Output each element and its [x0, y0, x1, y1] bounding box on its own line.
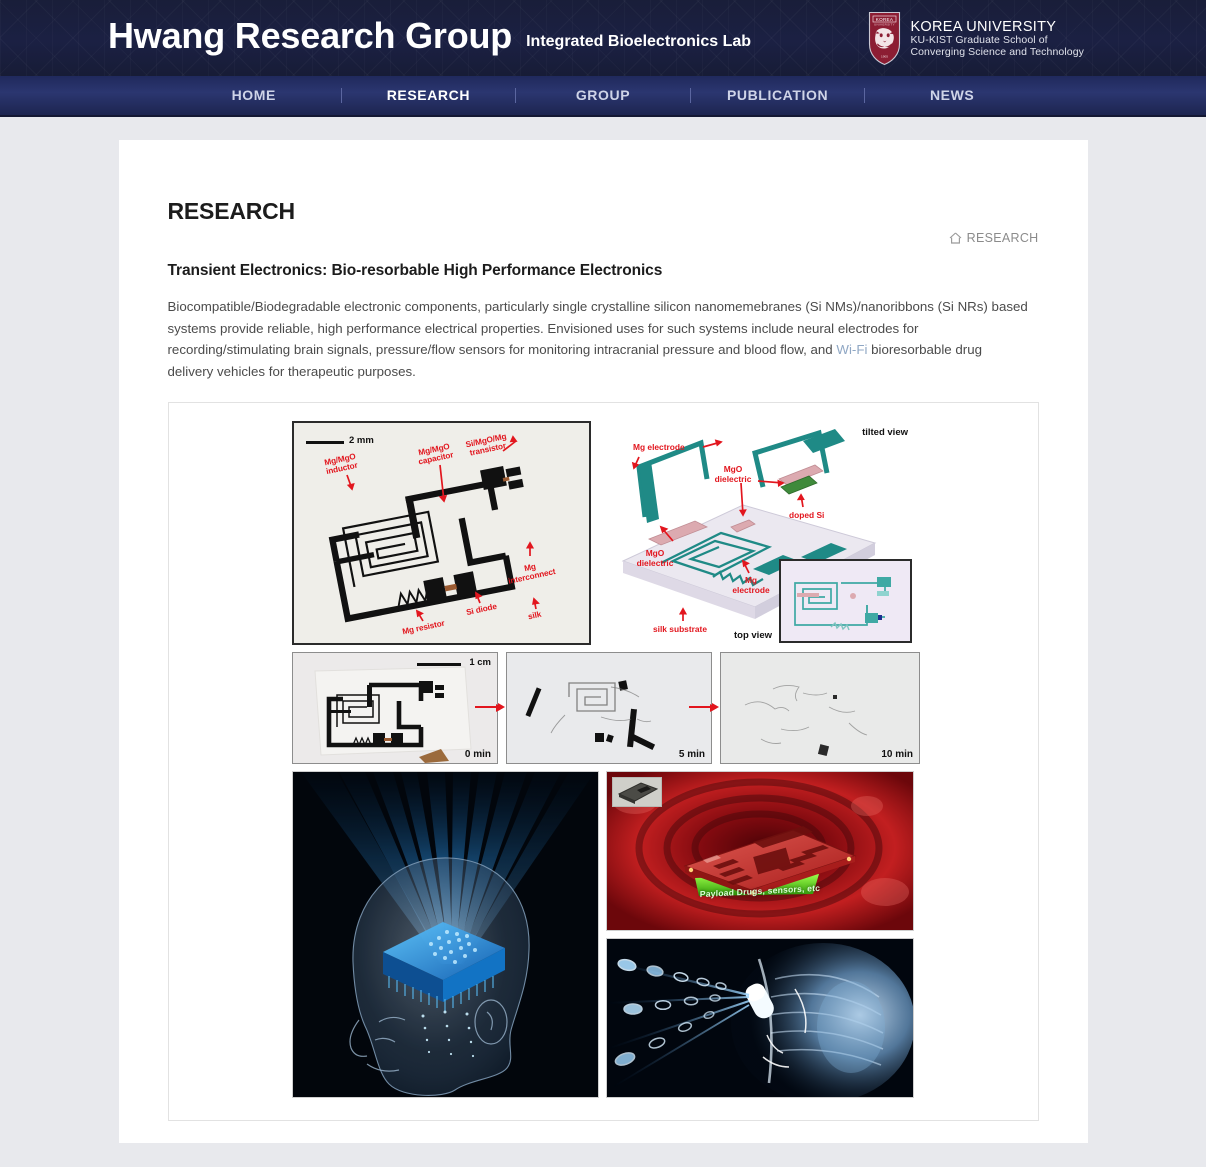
dissolution-device-intact	[293, 653, 497, 763]
page-header-row: RESEARCH RESEARCH	[168, 198, 1039, 252]
device-photo-thumbnail	[613, 778, 661, 806]
home-icon	[949, 232, 962, 244]
university-name: KOREA UNIVERSITY	[910, 19, 1084, 35]
dissolution-device-dissolved	[721, 653, 919, 763]
figure-panel-neural-interface	[292, 771, 599, 1098]
site-subtitle: Integrated Bioelectronics Lab	[526, 33, 751, 51]
scale-bar-1cm	[417, 663, 461, 666]
xray-ingestible-illustration	[607, 939, 913, 1097]
figure-right-column: Payload Drugs, sensors, etc	[606, 771, 914, 1098]
dissolution-timestamp-0: 0 min	[465, 749, 491, 760]
brand-block[interactable]: Hwang Research Group Integrated Bioelect…	[108, 14, 751, 58]
page-title: RESEARCH	[168, 198, 295, 225]
korea-university-logo[interactable]: KOREA UNIVERSITY 1905 KOREA UNIVERSITY K…	[868, 11, 1084, 66]
breadcrumb-label: RESEARCH	[967, 231, 1039, 245]
nav-item-news[interactable]: NEWS	[865, 75, 1039, 116]
nav-item-publication[interactable]: PUBLICATION	[691, 75, 865, 116]
scale-label-1cm: 1 cm	[469, 657, 491, 668]
figure-panel-drug-delivery: Payload Drugs, sensors, etc	[606, 771, 914, 931]
research-figure-container: 2 mm Mg/MgO inductor Mg/MgO capacitor Si…	[168, 402, 1039, 1121]
main-navigation[interactable]: HOME RESEARCH GROUP PUBLICATION NEWS	[0, 76, 1206, 117]
dissolution-frame-5min: 5 min	[506, 652, 712, 764]
figure-row-dissolution: 1 cm 0 min	[292, 652, 914, 764]
figure-panel-device-photo: 2 mm Mg/MgO inductor Mg/MgO capacitor Si…	[292, 421, 591, 645]
figure-inset-device-photo	[612, 777, 662, 807]
korea-university-tiger-shield-icon: KOREA UNIVERSITY 1905	[868, 11, 901, 66]
dissolution-frame-0min: 1 cm 0 min	[292, 652, 498, 764]
dissolution-timestamp-1: 5 min	[679, 749, 705, 760]
breadcrumb[interactable]: RESEARCH	[949, 231, 1039, 245]
research-figure: 2 mm Mg/MgO inductor Mg/MgO capacitor Si…	[292, 421, 914, 1098]
dissolution-timestamp-2: 10 min	[881, 749, 913, 760]
figure-inset-top-view	[779, 559, 912, 643]
content-card: RESEARCH RESEARCH Transient Electronics:…	[119, 140, 1088, 1143]
figure-row-illustrations: Payload Drugs, sensors, etc	[292, 771, 914, 1098]
university-school-line-2: Converging Science and Technology	[910, 47, 1084, 59]
svg-text:KOREA: KOREA	[876, 17, 894, 22]
dissolution-frame-10min: 10 min	[720, 652, 920, 764]
nav-item-group[interactable]: GROUP	[516, 75, 690, 116]
svg-text:UNIVERSITY: UNIVERSITY	[874, 23, 895, 27]
section-paragraph: Biocompatible/Biodegradable electronic c…	[168, 296, 1030, 382]
svg-text:1905: 1905	[881, 55, 888, 59]
section-title: Transient Electronics: Bio-resorbable Hi…	[168, 262, 1039, 280]
nav-item-research[interactable]: RESEARCH	[342, 75, 516, 116]
nav-item-home[interactable]: HOME	[167, 75, 341, 116]
university-school-line-1: KU-KIST Graduate School of	[910, 35, 1084, 47]
site-header: Hwang Research Group Integrated Bioelect…	[0, 0, 1206, 76]
wifi-highlight: Wi-Fi	[836, 342, 867, 357]
figure-panel-xray	[606, 938, 914, 1098]
figure-panel-3d-schematic: tilted view top view Mg electrode MgO di…	[603, 421, 914, 645]
figure-row-top: 2 mm Mg/MgO inductor Mg/MgO capacitor Si…	[292, 421, 914, 645]
dissolution-device-partial	[507, 653, 711, 763]
top-view-schematic	[781, 561, 910, 641]
neural-electrode-array-illustration	[293, 772, 598, 1097]
panel-a-annotation-arrows	[294, 423, 591, 645]
site-title: Hwang Research Group	[108, 14, 512, 58]
page-background: RESEARCH RESEARCH Transient Electronics:…	[0, 117, 1206, 1167]
